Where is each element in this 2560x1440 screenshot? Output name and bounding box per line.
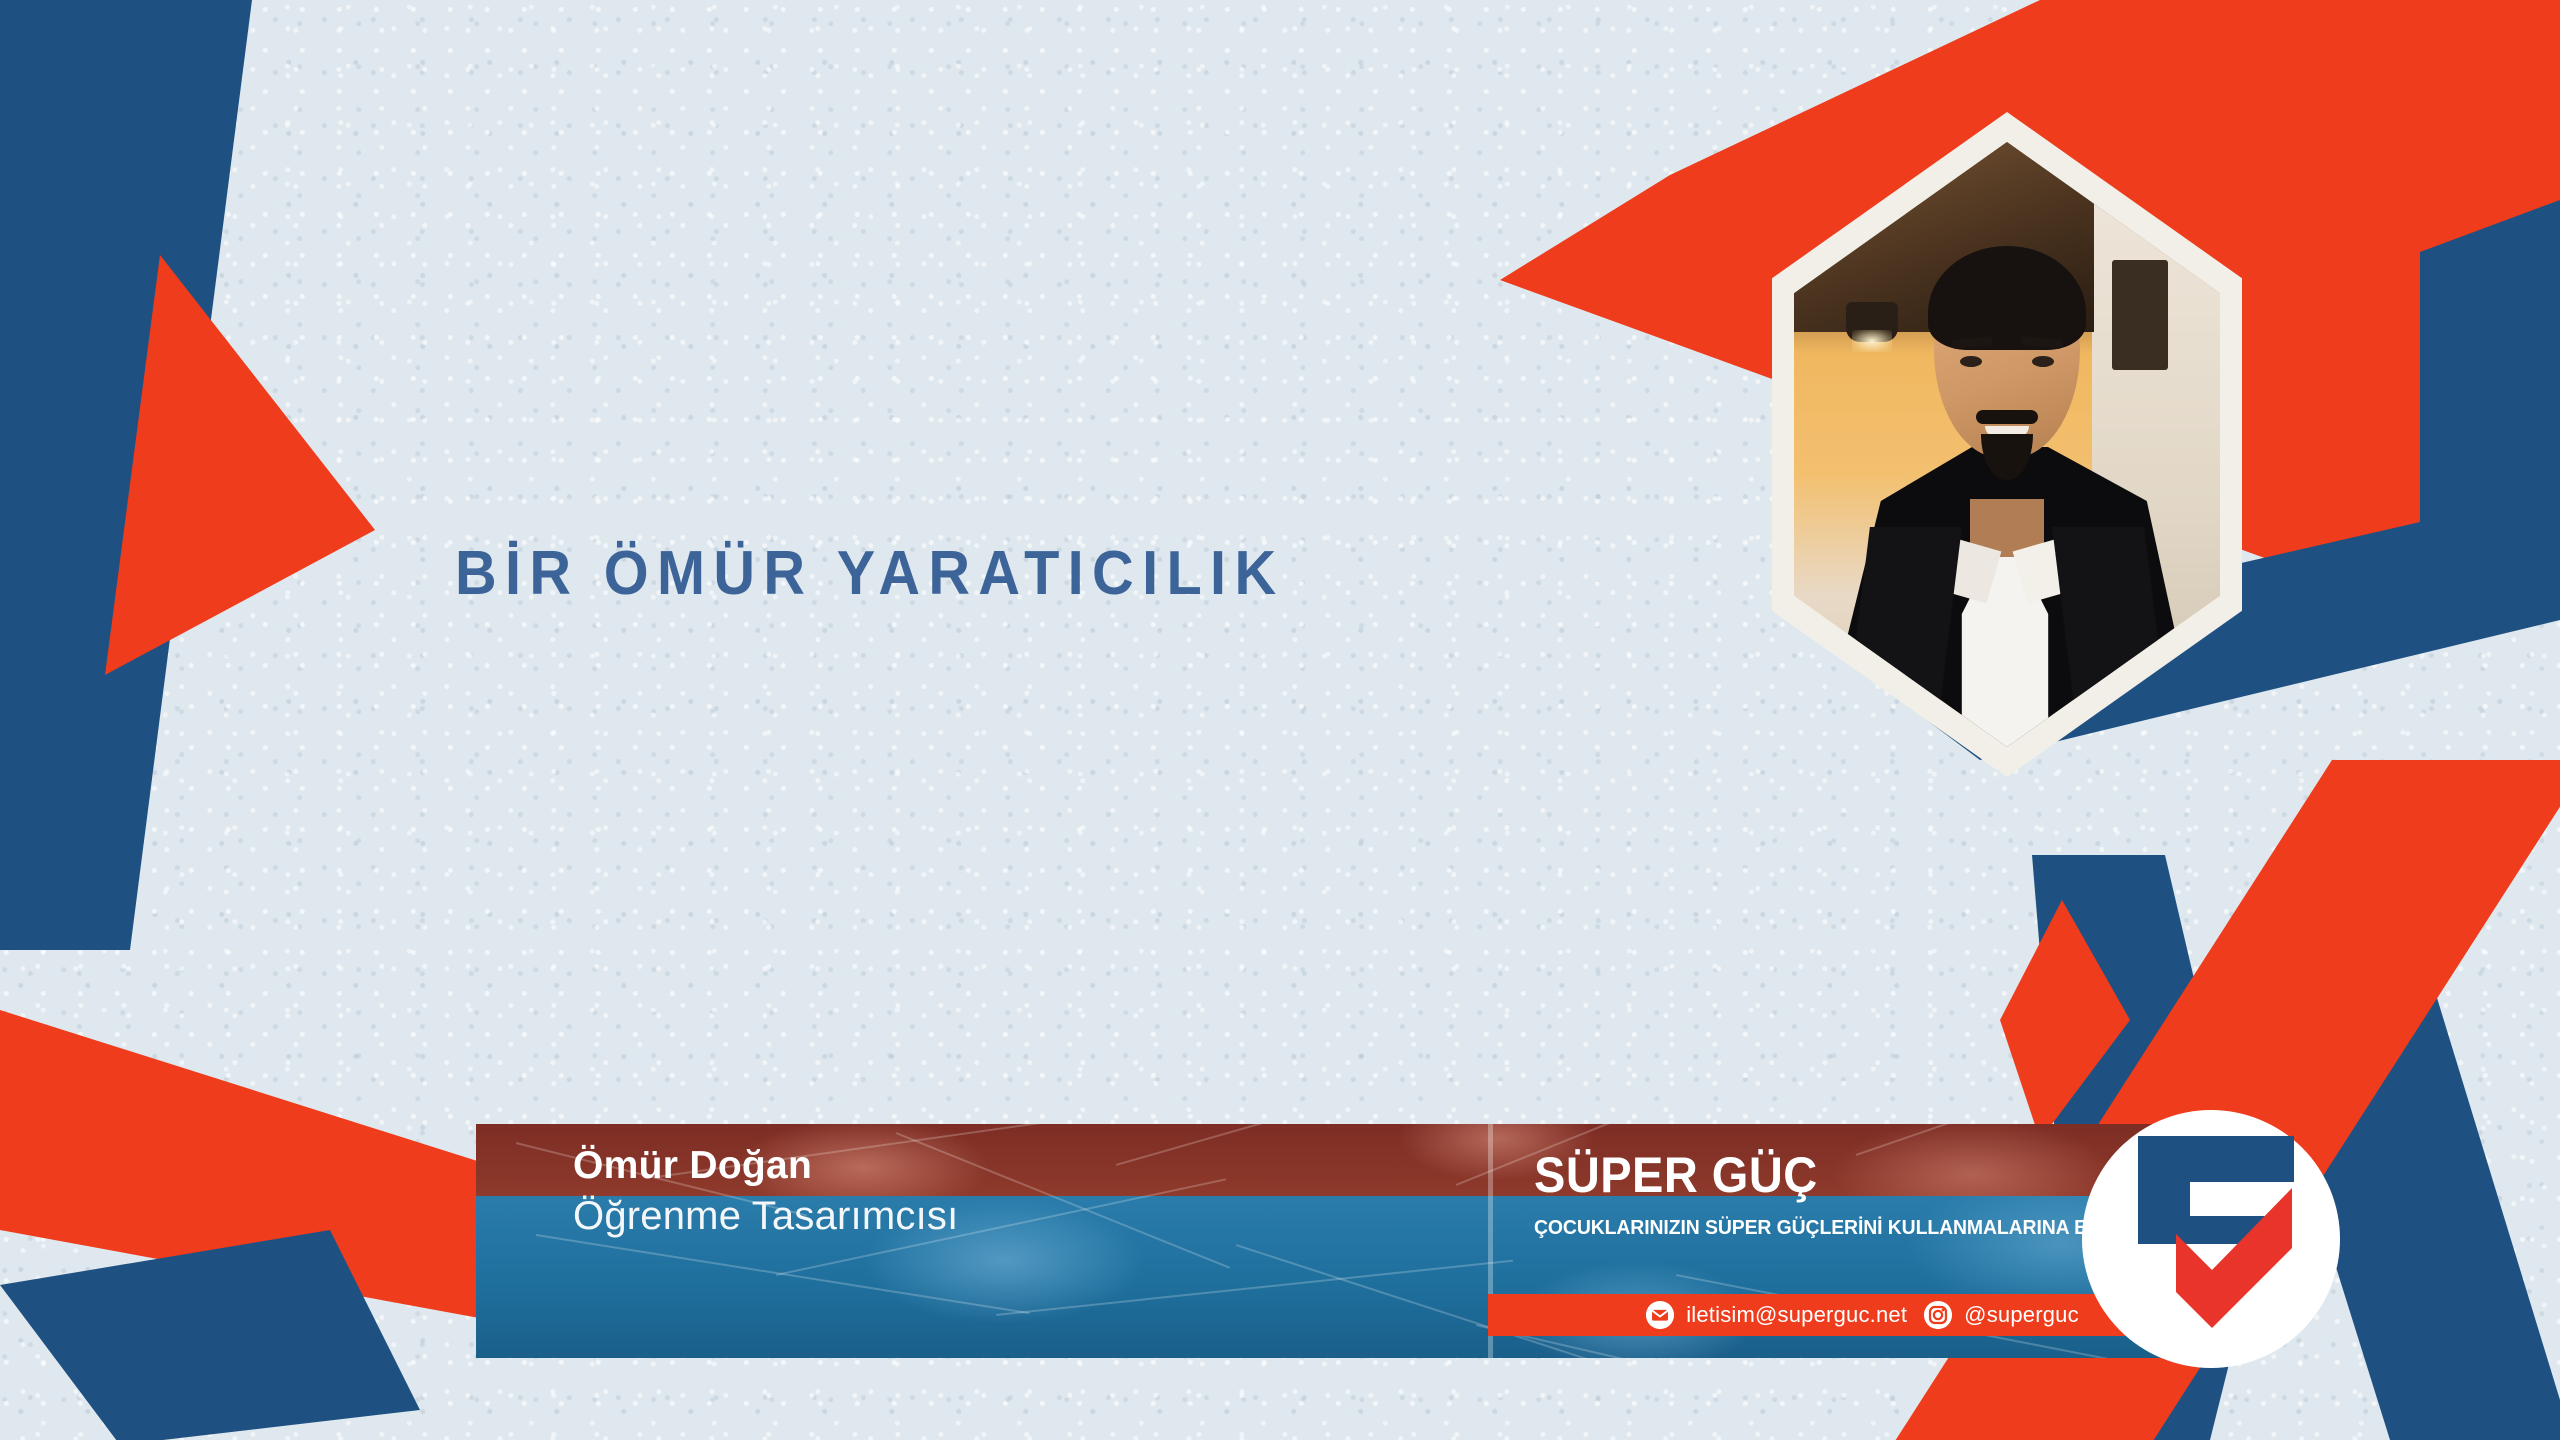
contact-instagram[interactable]: @superguc	[1923, 1300, 2079, 1330]
speaker-banner: Ömür Doğan Öğrenme Tasarımcısı SÜPER GÜÇ…	[476, 1124, 2236, 1358]
speaker-name: Ömür Doğan	[573, 1144, 958, 1188]
brand-logo	[2082, 1110, 2340, 1368]
contact-email[interactable]: iletisim@superguc.net	[1645, 1300, 1907, 1330]
contact-instagram-text: @superguc	[1964, 1302, 2079, 1328]
speaker-role: Öğrenme Tasarımcısı	[573, 1192, 958, 1240]
page-title: BİR ÖMÜR YARATICILIK	[455, 538, 1284, 609]
slide-canvas: BİR ÖMÜR YARATICILIK	[0, 0, 2560, 1440]
instagram-icon	[1923, 1300, 1953, 1330]
speaker-info: Ömür Doğan Öğrenme Tasarımcısı	[573, 1144, 958, 1240]
speaker-portrait	[1772, 112, 2242, 777]
logo-check-icon	[2176, 1188, 2292, 1328]
brand-name: SÜPER GÜÇ	[1534, 1146, 2177, 1204]
contact-email-text: iletisim@superguc.net	[1686, 1302, 1907, 1328]
superguc-logo-mark	[2116, 1130, 2316, 1345]
envelope-icon	[1645, 1300, 1675, 1330]
